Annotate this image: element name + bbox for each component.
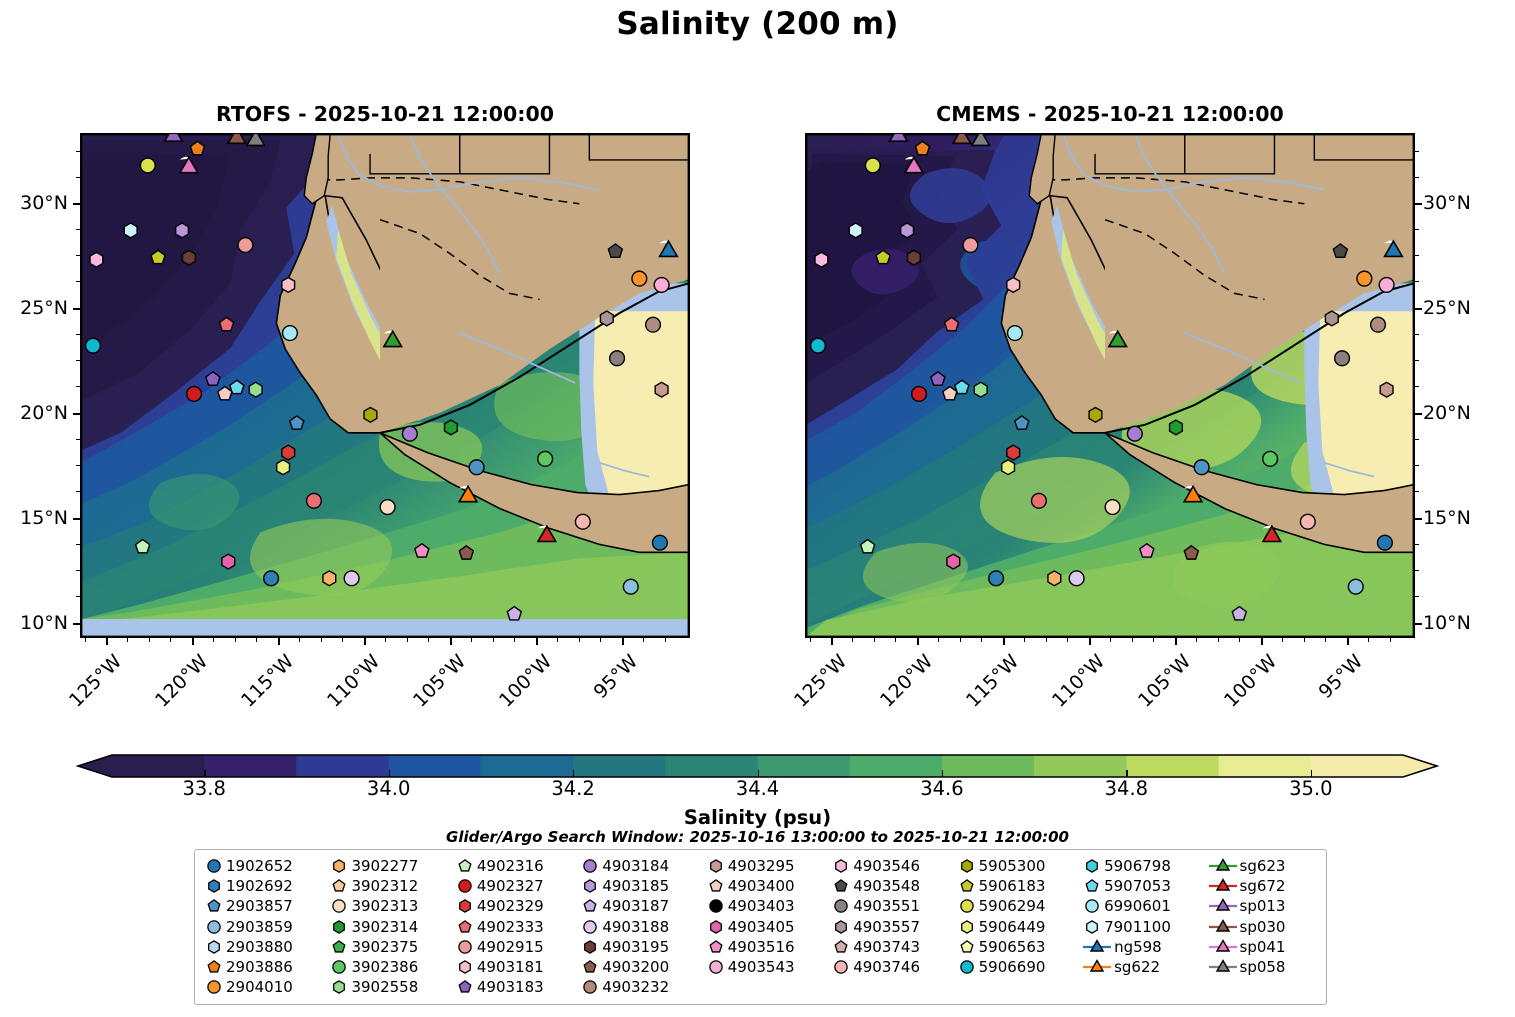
float-marker-icon (329, 917, 349, 937)
glider-marker-icon (1208, 876, 1238, 896)
legend-item[interactable]: sg622 (1082, 957, 1207, 977)
lat-label-20n: 20°N (0, 402, 68, 424)
legend-item-label: 5906690 (977, 958, 1046, 976)
legend-item[interactable]: sp013 (1208, 896, 1320, 916)
legend-item-label: 5905300 (977, 857, 1046, 875)
float-marker-icon (1082, 917, 1102, 937)
float-marker-icon (580, 957, 600, 977)
legend-item[interactable]: 6990601 (1082, 896, 1207, 916)
float-marker-icon (957, 917, 977, 937)
lat-label-10n: 10°N (0, 612, 68, 634)
lon-label-120w: 120°W (132, 650, 213, 731)
legend-item-label: sg623 (1238, 857, 1286, 875)
float-marker-icon (831, 937, 851, 957)
colorbar-tick-label: 33.8 (182, 777, 225, 800)
legend-column-6: 5905300590618359062945906449590656359066… (957, 856, 1082, 997)
colorbar-tick-label: 34.0 (367, 777, 410, 800)
lon-label-95w-right: 95°W (1287, 650, 1368, 731)
colorbar-tick-label: 34.6 (920, 777, 963, 800)
colorbar-tick-label: 34.4 (736, 777, 779, 800)
glider-marker-icon (1208, 957, 1238, 977)
float-marker-icon (706, 876, 726, 896)
glider-marker-icon (1208, 937, 1238, 957)
legend-item-label: 5906449 (977, 918, 1046, 936)
legend-item[interactable]: 4903295 (706, 856, 831, 876)
legend-item-label: 4902316 (475, 857, 544, 875)
legend-item[interactable]: 1902652 (204, 856, 329, 876)
panel-cmems-title: CMEMS - 2025-10-21 12:00:00 (805, 102, 1415, 126)
float-marker-icon (329, 896, 349, 916)
legend-item-label: 3902277 (349, 857, 418, 875)
float-marker-icon (957, 856, 977, 876)
float-marker-icon (1082, 896, 1102, 916)
legend-item[interactable]: 2903859 (204, 917, 329, 937)
float-marker-icon (706, 856, 726, 876)
legend-item-label: 4903183 (475, 978, 544, 996)
float-marker-icon (957, 876, 977, 896)
legend-item-label: 3902312 (349, 877, 418, 895)
legend-item-label: 1902652 (224, 857, 293, 875)
legend-column-0: 1902652190269229038572903859290388029038… (204, 856, 329, 997)
legend-item[interactable]: 4902915 (455, 937, 580, 957)
legend-item[interactable]: 3902375 (329, 937, 454, 957)
legend-item-label: sp013 (1238, 897, 1286, 915)
lat-label-10n-right: 10°N (1423, 612, 1471, 634)
float-marker-icon (831, 957, 851, 977)
legend-item-label: 4903400 (726, 877, 795, 895)
legend-item[interactable]: 4903743 (831, 937, 956, 957)
legend-item-label: 5907053 (1102, 877, 1171, 895)
legend-column-3: 4903184490318549031874903188490319549032… (580, 856, 705, 997)
legend-item-label: 4903746 (851, 958, 920, 976)
legend-item[interactable]: 4902333 (455, 917, 580, 937)
float-marker-icon (204, 957, 224, 977)
float-marker-icon (455, 876, 475, 896)
legend-item-label: 7901100 (1102, 918, 1171, 936)
glider-marker-icon (1082, 937, 1112, 957)
lon-label-100w-right: 100°W (1201, 650, 1282, 731)
float-marker-icon (329, 876, 349, 896)
float-marker-icon (706, 937, 726, 957)
legend-item[interactable]: 4903543 (706, 957, 831, 977)
legend-item-label: 3902375 (349, 938, 418, 956)
float-marker-icon (455, 937, 475, 957)
legend-item[interactable]: 4903184 (580, 856, 705, 876)
legend-item[interactable]: sp030 (1208, 917, 1320, 937)
colorbar-tick-label: 34.2 (551, 777, 594, 800)
legend-item-label: 4903200 (600, 958, 669, 976)
lon-label-100w: 100°W (476, 650, 557, 731)
legend-item-label: 4903195 (600, 938, 669, 956)
float-marker-icon (455, 977, 475, 997)
legend-item[interactable]: sg623 (1208, 856, 1320, 876)
panel-rtofs: RTOFS - 2025-10-21 12:00:00 (80, 133, 690, 638)
legend-item-label: 3902386 (349, 958, 418, 976)
legend-item[interactable]: 2903886 (204, 957, 329, 977)
lat-label-30n-right: 30°N (1423, 192, 1471, 214)
legend-item-label: 3902314 (349, 918, 418, 936)
legend-item[interactable]: 4903548 (831, 876, 956, 896)
legend-item-label: 4903551 (851, 897, 920, 915)
legend-column-5: 4903546490354849035514903557490374349037… (831, 856, 956, 997)
legend-item[interactable]: 4903183 (455, 977, 580, 997)
float-marker-icon (204, 977, 224, 997)
colorbar-label: Salinity (psu) (0, 806, 1515, 829)
legend-column-7: 5906798590705369906017901100ng598sg622 (1082, 856, 1207, 997)
legend-item-label: 4903188 (600, 918, 669, 936)
legend-item[interactable]: 3902313 (329, 896, 454, 916)
float-marker-icon (455, 896, 475, 916)
legend-item-label: 4903184 (600, 857, 669, 875)
legend-item[interactable]: 4903400 (706, 876, 831, 896)
legend-item[interactable]: 4903232 (580, 977, 705, 997)
lat-label-20n-right: 20°N (1423, 402, 1471, 424)
float-marker-icon (706, 917, 726, 937)
legend-item-label: 5906798 (1102, 857, 1171, 875)
colorbar-tick (573, 770, 574, 777)
float-marker-icon (204, 876, 224, 896)
legend-item[interactable]: 4903188 (580, 917, 705, 937)
lat-label-15n: 15°N (0, 507, 68, 529)
legend-item[interactable]: 4903516 (706, 937, 831, 957)
legend-item-label: 5906294 (977, 897, 1046, 915)
legend-item[interactable]: 7901100 (1082, 917, 1207, 937)
legend-item-label: sg672 (1238, 877, 1286, 895)
float-marker-icon (580, 917, 600, 937)
figure-title: Salinity (200 m) (0, 6, 1515, 42)
legend-item[interactable]: 4903557 (831, 917, 956, 937)
legend-item[interactable]: 4902316 (455, 856, 580, 876)
legend-item-label: 4902915 (475, 938, 544, 956)
float-marker-icon (329, 856, 349, 876)
lat-label-25n-right: 25°N (1423, 297, 1471, 319)
legend-column-1: 3902277390231239023133902314390237539023… (329, 856, 454, 997)
colorbar-tick (1311, 770, 1312, 777)
legend-item-label: 5906563 (977, 938, 1046, 956)
legend-item[interactable]: 3902277 (329, 856, 454, 876)
float-marker-icon (831, 856, 851, 876)
glider-marker-icon (1208, 917, 1238, 937)
legend-item-label: 5906183 (977, 877, 1046, 895)
float-marker-icon (580, 977, 600, 997)
float-marker-icon (580, 896, 600, 916)
float-marker-icon (329, 957, 349, 977)
legend-item-label: 4903187 (600, 897, 669, 915)
legend-item-label: 4903557 (851, 918, 920, 936)
float-marker-icon (580, 937, 600, 957)
legend-item-label: sp041 (1238, 938, 1286, 956)
float-marker-icon (831, 896, 851, 916)
float-marker-icon (1082, 876, 1102, 896)
lat-label-15n-right: 15°N (1423, 507, 1471, 529)
lon-label-120w-right: 120°W (857, 650, 938, 731)
panel-rtofs-title: RTOFS - 2025-10-21 12:00:00 (80, 102, 690, 126)
legend-item-label: 2903857 (224, 897, 293, 915)
legend-item-label: sg622 (1112, 958, 1160, 976)
legend-item[interactable]: 4903181 (455, 957, 580, 977)
legend-item[interactable]: 5907053 (1082, 876, 1207, 896)
legend-item[interactable]: 1902692 (204, 876, 329, 896)
map-cmems[interactable] (805, 133, 1415, 638)
float-marker-icon (831, 917, 851, 937)
colorbar: 33.834.034.234.434.634.835.0 Salinity (p… (0, 744, 1515, 849)
float-marker-icon (706, 896, 726, 916)
float-marker-icon (204, 917, 224, 937)
panel-cmems: CMEMS - 2025-10-21 12:00:00 (805, 133, 1415, 638)
lon-label-125w: 125°W (46, 650, 127, 731)
glider-marker-icon (1208, 856, 1238, 876)
legend-item[interactable]: 4903551 (831, 896, 956, 916)
legend-item-label: 4903295 (726, 857, 795, 875)
legend-item[interactable]: 3902314 (329, 917, 454, 937)
colorbar-tick-label: 35.0 (1289, 777, 1332, 800)
legend-item[interactable]: 5906294 (957, 896, 1082, 916)
map-rtofs[interactable] (80, 133, 690, 638)
legend-item-label: ng598 (1112, 938, 1162, 956)
float-marker-icon (831, 876, 851, 896)
lon-label-95w: 95°W (562, 650, 643, 731)
legend-column-8: sg623sg672sp013sp030sp041sp058 (1208, 856, 1320, 997)
float-marker-icon (204, 856, 224, 876)
legend-item[interactable]: sp041 (1208, 937, 1320, 957)
legend-item-label: 4903405 (726, 918, 795, 936)
legend-item-label: 4903548 (851, 877, 920, 895)
legend-item-label: 4903546 (851, 857, 920, 875)
legend-item[interactable]: 5905300 (957, 856, 1082, 876)
legend-item-label: sp030 (1238, 918, 1286, 936)
legend-item-label: 4902329 (475, 897, 544, 915)
legend-item[interactable]: 5906563 (957, 937, 1082, 957)
legend-item[interactable]: 5906690 (957, 957, 1082, 977)
legend-item-label: 4903403 (726, 897, 795, 915)
legend-item-label: 4902327 (475, 877, 544, 895)
colorbar-tick-label: 34.8 (1105, 777, 1148, 800)
legend-item-label: 1902692 (224, 877, 293, 895)
legend-item-label: 4903232 (600, 978, 669, 996)
float-marker-icon (329, 977, 349, 997)
lon-label-125w-right: 125°W (771, 650, 852, 731)
legend-item[interactable]: 4903403 (706, 896, 831, 916)
map-rtofs-canvas (81, 134, 689, 637)
float-marker-icon (1082, 856, 1102, 876)
glider-marker-icon (1208, 896, 1238, 916)
legend-item[interactable]: 4903200 (580, 957, 705, 977)
float-marker-icon (957, 896, 977, 916)
float-marker-icon (580, 876, 600, 896)
legend-item[interactable]: sp058 (1208, 957, 1320, 977)
legend-item[interactable]: 3902312 (329, 876, 454, 896)
legend-item[interactable]: 5906449 (957, 917, 1082, 937)
legend-item[interactable]: 3902558 (329, 977, 454, 997)
legend-item[interactable]: 2903880 (204, 937, 329, 957)
colorbar-tick (942, 770, 943, 777)
legend-item[interactable]: 2903857 (204, 896, 329, 916)
lat-label-25n: 25°N (0, 297, 68, 319)
legend-item-label: 4903516 (726, 938, 795, 956)
lon-label-110w-right: 110°W (1029, 650, 1110, 731)
legend-item-label: sp058 (1238, 958, 1286, 976)
float-marker-icon (957, 957, 977, 977)
legend-box: 1902652190269229038572903859290388029038… (194, 849, 1327, 1005)
legend-item-label: 4902333 (475, 918, 544, 936)
legend-item[interactable]: 3902386 (329, 957, 454, 977)
legend-column-2: 4902316490232749023294902333490291549031… (455, 856, 580, 997)
legend-item-label: 4903185 (600, 877, 669, 895)
legend-item-label: 2903886 (224, 958, 293, 976)
legend-item[interactable]: 4903185 (580, 876, 705, 896)
legend-item[interactable]: 4903405 (706, 917, 831, 937)
float-marker-icon (706, 957, 726, 977)
lon-label-115w: 115°W (218, 650, 299, 731)
legend-item-label: 2903880 (224, 938, 293, 956)
lon-label-105w-right: 105°W (1115, 650, 1196, 731)
legend-item-label: 3902313 (349, 897, 418, 915)
legend-item-label: 2903859 (224, 918, 293, 936)
glider-marker-icon (1082, 957, 1112, 977)
legend-item-label: 4903743 (851, 938, 920, 956)
colorbar-tick (204, 770, 205, 777)
lon-label-105w: 105°W (390, 650, 471, 731)
float-marker-icon (957, 937, 977, 957)
legend-item[interactable]: 4903187 (580, 896, 705, 916)
colorbar-tick (1126, 770, 1127, 777)
float-marker-icon (329, 937, 349, 957)
lon-label-110w: 110°W (304, 650, 385, 731)
legend-item[interactable]: 4902327 (455, 876, 580, 896)
legend-item[interactable]: ng598 (1082, 937, 1207, 957)
float-marker-icon (204, 937, 224, 957)
legend-item-label: 4903543 (726, 958, 795, 976)
legend-item[interactable]: 4902329 (455, 896, 580, 916)
legend-item-label: 2904010 (224, 978, 293, 996)
colorbar-tick (389, 770, 390, 777)
search-window-label: Glider/Argo Search Window: 2025-10-16 13… (0, 828, 1515, 846)
float-marker-icon (455, 957, 475, 977)
legend-item-label: 3902558 (349, 978, 418, 996)
legend-item[interactable]: sg672 (1208, 876, 1320, 896)
float-marker-icon (580, 856, 600, 876)
legend-item[interactable]: 2904010 (204, 977, 329, 997)
legend-item-label: 4903181 (475, 958, 544, 976)
float-marker-icon (204, 896, 224, 916)
legend-item[interactable]: 4903546 (831, 856, 956, 876)
legend-item[interactable]: 5906798 (1082, 856, 1207, 876)
lat-label-30n: 30°N (0, 192, 68, 214)
float-marker-icon (455, 856, 475, 876)
lon-label-115w-right: 115°W (943, 650, 1024, 731)
float-marker-icon (455, 917, 475, 937)
colorbar-tick (758, 770, 759, 777)
legend-item-label: 6990601 (1102, 897, 1171, 915)
legend-column-4: 4903295490340049034034903405490351649035… (706, 856, 831, 997)
legend-item[interactable]: 4903746 (831, 957, 956, 977)
legend-item[interactable]: 5906183 (957, 876, 1082, 896)
map-cmems-canvas (806, 134, 1414, 637)
legend-item[interactable]: 4903195 (580, 937, 705, 957)
